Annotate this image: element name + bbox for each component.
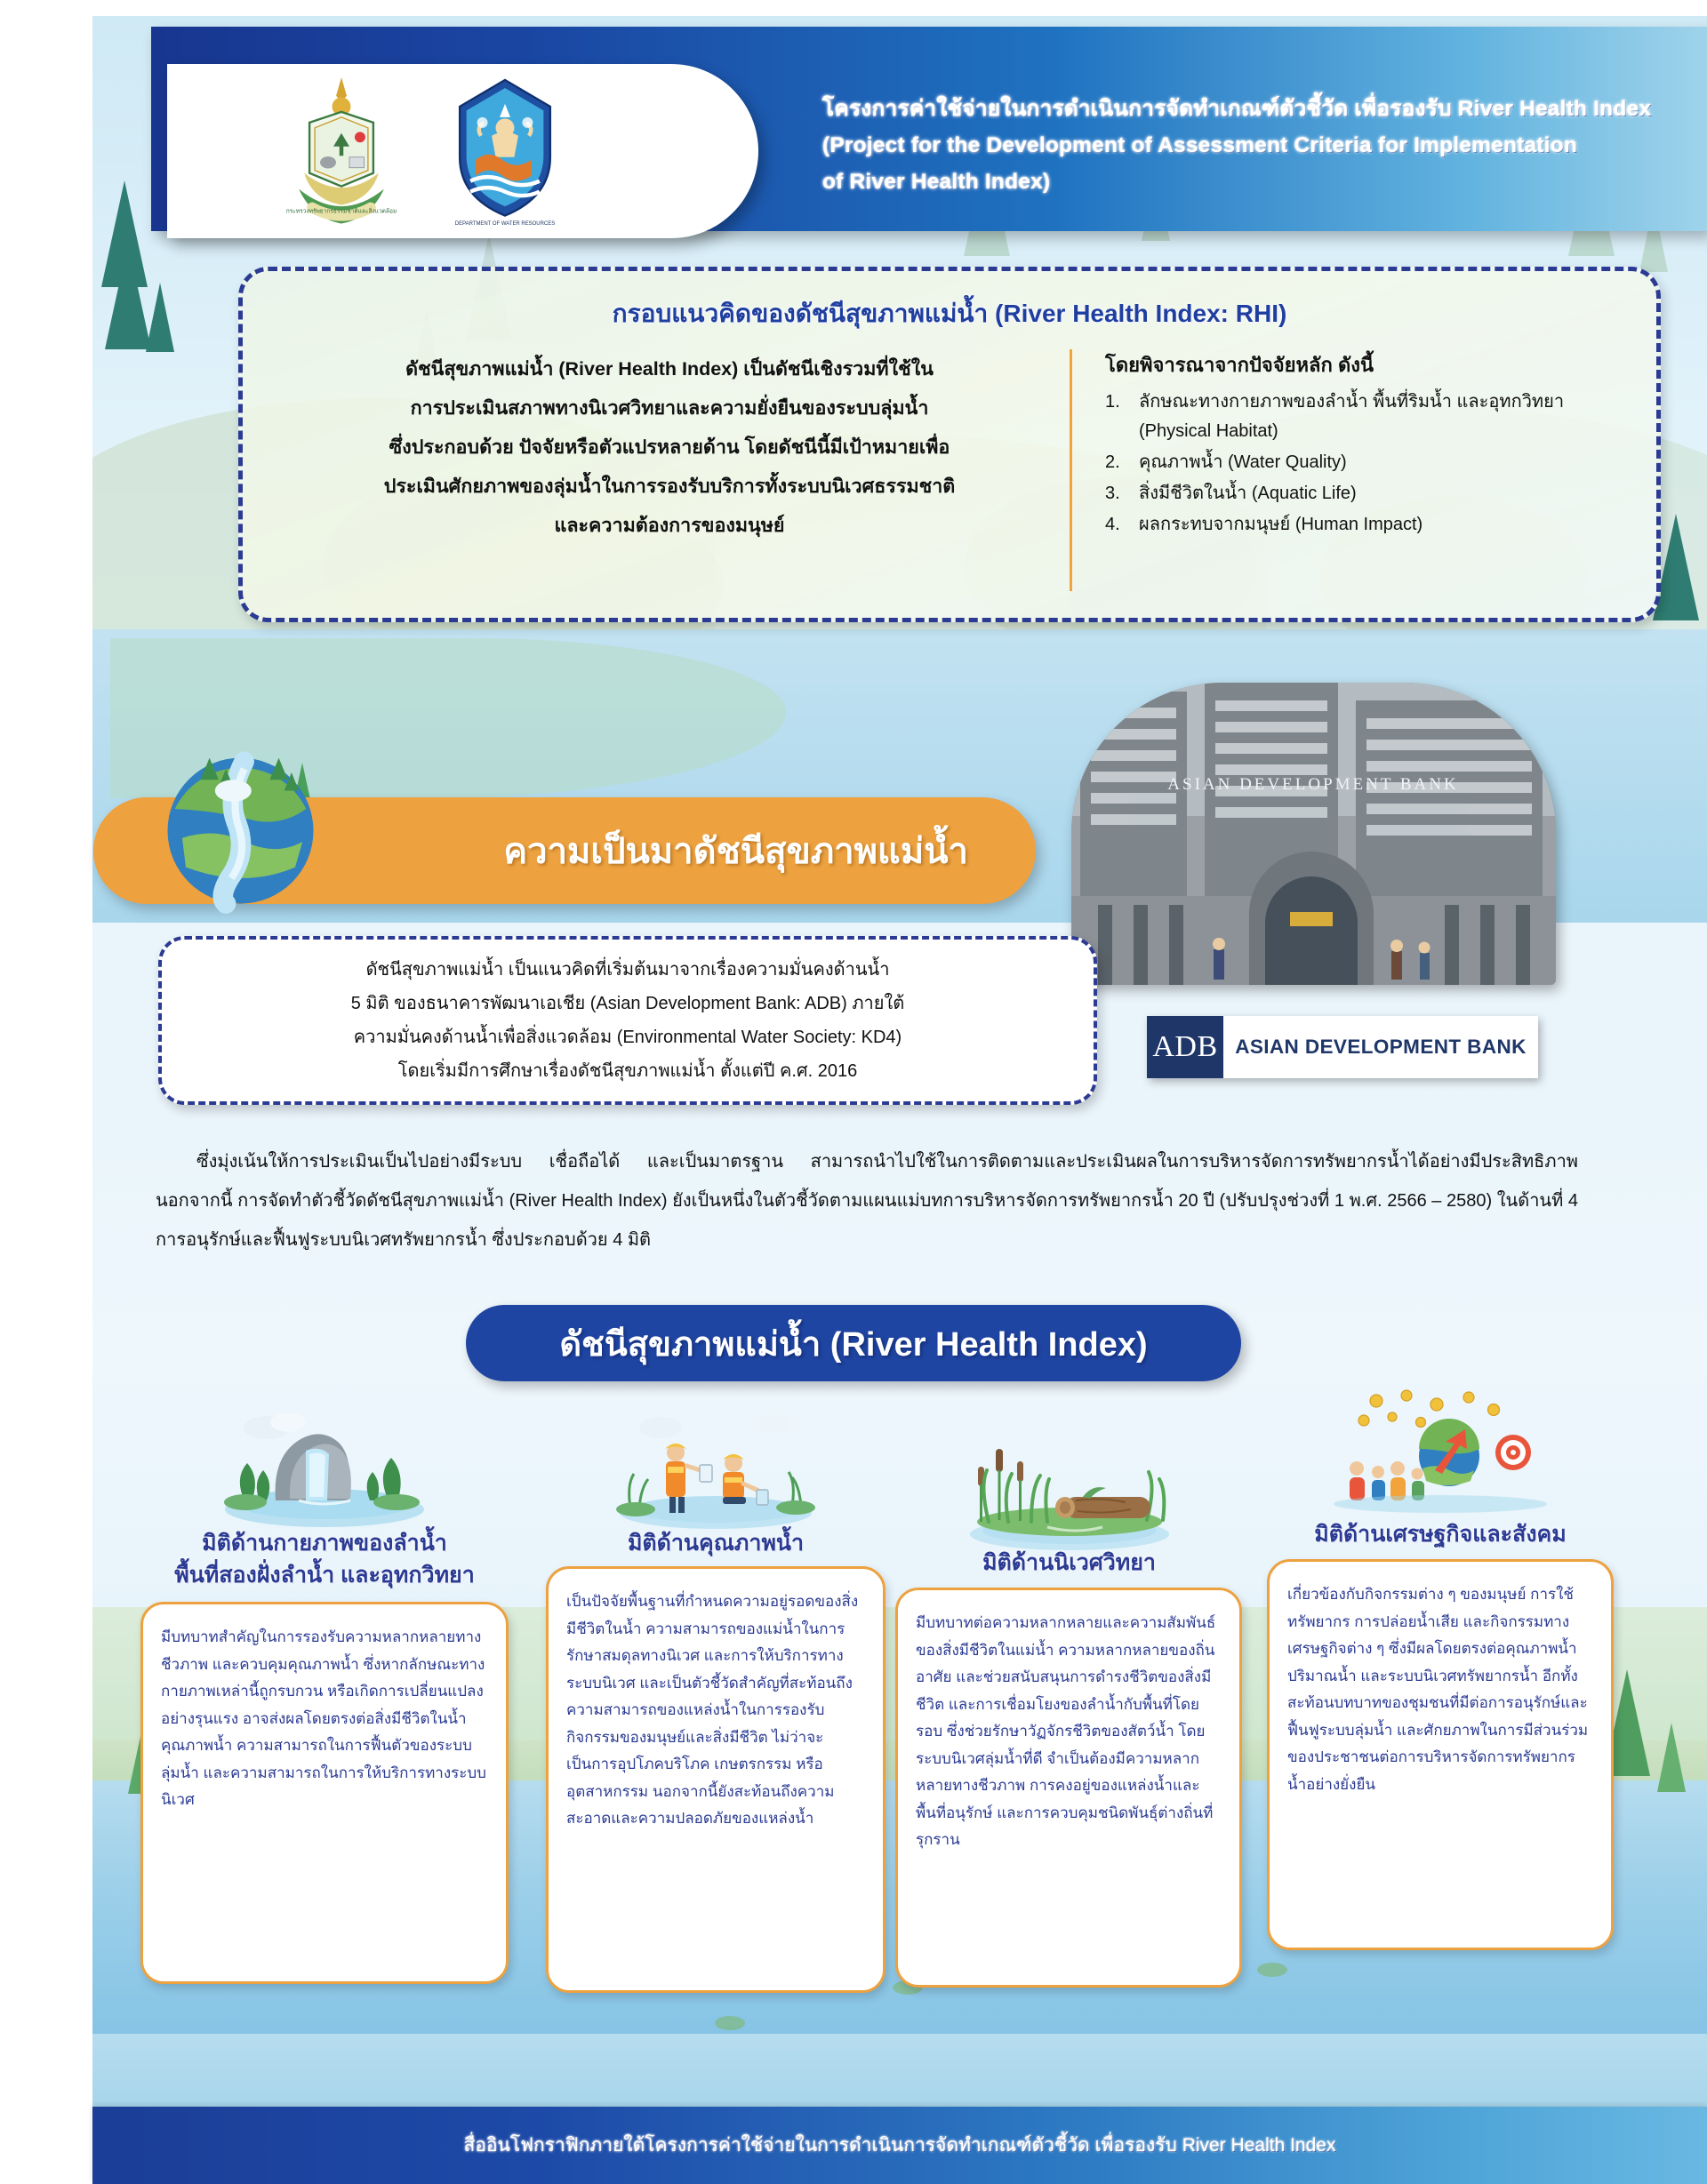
- dimension-description-text: มีบทบาทต่อความหลากหลายและความสัมพันธ์ของ…: [916, 1614, 1215, 1848]
- factor-text: คุณภาพน้ำ (Water Quality): [1139, 448, 1347, 477]
- factor-text: สิ่งมีชีวิตในน้ำ (Aquatic Life): [1139, 479, 1357, 508]
- framework-paragraph-line: และความต้องการของมนุษย์: [278, 506, 1061, 545]
- header-title-thai: โครงการค่าใช้จ่ายในการดำเนินการจัดทำเกณฑ…: [822, 91, 1707, 127]
- dimension-description-card: มีบทบาทต่อความหลากหลายและความสัมพันธ์ของ…: [895, 1588, 1242, 1988]
- dimension-title: มิติด้านกายภาพของลำน้ำ พื้นที่สองฝั่งลำน…: [133, 1527, 516, 1591]
- adb-building-illustration: ASIAN DEVELOPMENT BANK: [1071, 683, 1556, 985]
- dimension-title-line-1: มิติด้านกายภาพของลำน้ำ: [133, 1527, 516, 1559]
- factor-item: 2. คุณภาพน้ำ (Water Quality): [1105, 448, 1639, 477]
- adb-logo: ADB ASIAN DEVELOPMENT BANK: [1147, 1016, 1538, 1078]
- dimension-title-line-1: มิติด้านนิเวศวิทยา: [902, 1547, 1236, 1579]
- factors-heading: โดยพิจารณาจากปัจจัยหลัก ดังนี้: [1105, 349, 1639, 380]
- origin-description-box: ดัชนีสุขภาพแม่น้ำ เป็นแนวคิดที่เริ่มต้นม…: [158, 936, 1097, 1105]
- footer-label: สื่ออินโฟกราฟิกภายใต้โครงการค่าใช้จ่ายใน…: [464, 2131, 1336, 2160]
- economy-society-globe-icon: [1267, 1387, 1614, 1520]
- origin-description-line: ความมั่นคงด้านน้ำเพื่อสิ่งแวดล้อม (Envir…: [354, 1020, 902, 1054]
- dimension-title: มิติด้านคุณภาพน้ำ: [551, 1527, 880, 1559]
- origin-banner-label: ความเป็นมาดัชนีสุขภาพแม่น้ำ: [503, 822, 968, 879]
- factor-number: 2.: [1105, 448, 1128, 477]
- adb-logo-text: ASIAN DEVELOPMENT BANK: [1223, 1036, 1538, 1059]
- framework-factors: โดยพิจารณาจากปัจจัยหลัก ดังนี้ 1. ลักษณะ…: [1105, 349, 1639, 541]
- factor-number: 3.: [1105, 479, 1128, 508]
- logo-panel: กระทรวงทรัพยากรธรรมชาติและสิ่งแวดล้อม DE…: [167, 64, 758, 238]
- vertical-divider: [1070, 349, 1072, 591]
- dimension-description-card: มีบทบาทสำคัญในการรองรับความหลากหลายทางชี…: [140, 1602, 509, 1984]
- lily-pad: [715, 2016, 745, 2030]
- river-health-index-banner: ดัชนีสุขภาพแม่น้ำ (River Health Index): [466, 1305, 1241, 1381]
- dimension-description-card: เป็นปัจจัยพื้นฐานที่กำหนดความอยู่รอดของส…: [546, 1566, 886, 1993]
- header-title-english-line-2: of River Health Index): [822, 164, 1707, 200]
- ministry-of-natural-resources-and-environment-crest: กระทรวงทรัพยากรธรรมชาติและสิ่งแวดล้อม: [275, 75, 408, 228]
- footer-banner: สื่ออินโฟกราฟิกภายใต้โครงการค่าใช้จ่ายใน…: [92, 2107, 1707, 2184]
- framework-title: กรอบแนวคิดของดัชนีสุขภาพแม่น้ำ (River He…: [243, 294, 1656, 333]
- framework-paragraph-line: ประเมินศักยภาพของลุ่มน้ำในการรองรับบริกา…: [278, 467, 1061, 506]
- body-paragraph-text: ซึ่งมุ่งเน้นให้การประเมินเป็นไปอย่างมีระ…: [156, 1152, 1578, 1250]
- lily-pad: [1257, 1963, 1287, 1977]
- framework-paragraph-line: ดัชนีสุขภาพแม่น้ำ (River Health Index) เ…: [278, 349, 1061, 388]
- water-sampling-workers-icon: [551, 1404, 880, 1529]
- riverbank-reeds-log-icon: [902, 1422, 1236, 1551]
- dimension-description-card: เกี่ยวข้องกับกิจกรรมต่าง ๆ ของมนุษย์ การ…: [1267, 1559, 1614, 1950]
- dimension-title: มิติด้านเศรษฐกิจและสังคม: [1267, 1518, 1614, 1550]
- rhi-framework-box: กรอบแนวคิดของดัชนีสุขภาพแม่น้ำ (River He…: [238, 267, 1661, 622]
- factor-text: ผลกระทบจากมนุษย์ (Human Impact): [1139, 510, 1422, 540]
- waterfall-rocks-icon: [133, 1396, 516, 1529]
- background-tree: [105, 243, 151, 349]
- dimension-title: มิติด้านนิเวศวิทยา: [902, 1547, 1236, 1579]
- factor-item: 1. ลักษณะทางกายภาพของลำน้ำ พื้นที่ริมน้ำ…: [1105, 388, 1639, 446]
- department-of-water-resources-crest: DEPARTMENT OF WATER RESOURCES: [438, 75, 572, 228]
- factor-item: 4. ผลกระทบจากมนุษย์ (Human Impact): [1105, 510, 1639, 540]
- dimension-title-line-1: มิติด้านคุณภาพน้ำ: [551, 1527, 880, 1559]
- svg-text:DEPARTMENT OF WATER RESOURCES: DEPARTMENT OF WATER RESOURCES: [454, 221, 554, 227]
- dimension-description-text: เป็นปัจจัยพื้นฐานที่กำหนดความอยู่รอดของส…: [566, 1593, 858, 1827]
- factors-list: 1. ลักษณะทางกายภาพของลำน้ำ พื้นที่ริมน้ำ…: [1105, 388, 1639, 540]
- asian-development-bank-building-photo: ASIAN DEVELOPMENT BANK: [1071, 683, 1556, 985]
- factor-number: 4.: [1105, 510, 1128, 540]
- globe-with-river-icon: [149, 736, 332, 918]
- header-banner: กระทรวงทรัพยากรธรรมชาติและสิ่งแวดล้อม DE…: [151, 27, 1707, 231]
- header-title: โครงการค่าใช้จ่ายในการดำเนินการจัดทำเกณฑ…: [822, 91, 1707, 200]
- dimension-title-line-1: มิติด้านเศรษฐกิจและสังคม: [1267, 1518, 1614, 1550]
- dimension-description-text: มีบทบาทสำคัญในการรองรับความหลากหลายทางชี…: [161, 1628, 486, 1808]
- factor-item: 3. สิ่งมีชีวิตในน้ำ (Aquatic Life): [1105, 479, 1639, 508]
- background-tree: [146, 283, 174, 352]
- origin-description-line: 5 มิติ ของธนาคารพัฒนาเอเชีย (Asian Devel…: [351, 987, 904, 1020]
- factor-text: ลักษณะทางกายภาพของลำน้ำ พื้นที่ริมน้ำ แล…: [1139, 388, 1639, 446]
- infographic-poster: กระทรวงทรัพยากรธรรมชาติและสิ่งแวดล้อม DE…: [0, 0, 1707, 2184]
- factor-number: 1.: [1105, 388, 1128, 446]
- dimension-title-line-2: พื้นที่สองฝั่งลำน้ำ และอุทกวิทยา: [133, 1559, 516, 1591]
- framework-paragraph: ดัชนีสุขภาพแม่น้ำ (River Health Index) เ…: [278, 349, 1061, 545]
- origin-description-line: โดยเริ่มมีการศึกษาเรื่องดัชนีสุขภาพแม่น้…: [398, 1054, 857, 1088]
- adb-logo-mark: ADB: [1147, 1016, 1223, 1078]
- framework-paragraph-line: การประเมินสภาพทางนิเวศวิทยาและความยั่งยื…: [278, 388, 1061, 428]
- framework-paragraph-line: ซึ่งประกอบด้วย ปัจจัยหรือตัวแปรหลายด้าน …: [278, 428, 1061, 467]
- background-tree: [1657, 1723, 1686, 1792]
- dimension-description-text: เกี่ยวข้องกับกิจกรรมต่าง ๆ ของมนุษย์ การ…: [1287, 1586, 1588, 1793]
- river-health-index-banner-label: ดัชนีสุขภาพแม่น้ำ (River Health Index): [559, 1316, 1147, 1371]
- origin-description-line: ดัชนีสุขภาพแม่น้ำ เป็นแนวคิดที่เริ่มต้นม…: [366, 953, 890, 987]
- body-paragraph: ซึ่งมุ่งเน้นให้การประเมินเป็นไปอย่างมีระ…: [156, 1142, 1578, 1260]
- svg-text:กระทรวงทรัพยากรธรรมชาติและสิ่ง: กระทรวงทรัพยากรธรรมชาติและสิ่งแวดล้อม: [285, 207, 397, 215]
- header-title-english-line-1: (Project for the Development of Assessme…: [822, 127, 1707, 164]
- svg-text:ASIAN DEVELOPMENT BANK: ASIAN DEVELOPMENT BANK: [1167, 775, 1458, 794]
